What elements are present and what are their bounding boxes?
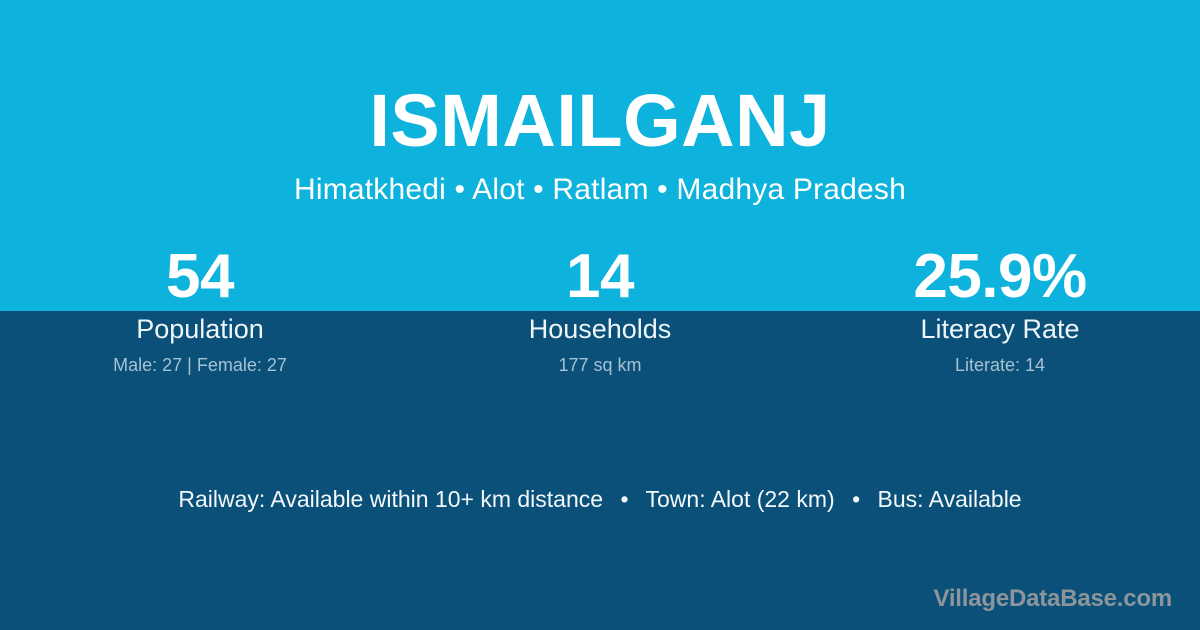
info-separator-2: • bbox=[841, 484, 871, 514]
info-railway: Railway: Available within 10+ km distanc… bbox=[178, 486, 603, 512]
stat-sub-households: 177 sq km bbox=[400, 354, 800, 376]
stat-literacy-rate: 25.9% Literacy Rate Literate: 14 bbox=[800, 244, 1200, 376]
info-separator-1: • bbox=[609, 484, 639, 514]
stat-value-population: 54 bbox=[0, 244, 400, 310]
stat-label-population: Population bbox=[0, 313, 400, 345]
stat-sub-literacy-rate: Literate: 14 bbox=[800, 354, 1200, 376]
info-bus: Bus: Available bbox=[878, 486, 1022, 512]
stat-value-literacy-rate: 25.9% bbox=[800, 244, 1200, 310]
connectivity-info-line: Railway: Available within 10+ km distanc… bbox=[0, 484, 1200, 514]
stat-population: 54 Population Male: 27 | Female: 27 bbox=[0, 244, 400, 376]
village-data-card: ISMAILGANJ Himatkhedi • Alot • Ratlam • … bbox=[0, 0, 1200, 630]
card-header: ISMAILGANJ Himatkhedi • Alot • Ratlam • … bbox=[0, 0, 1200, 205]
stat-label-literacy-rate: Literacy Rate bbox=[800, 313, 1200, 345]
page-title: ISMAILGANJ bbox=[0, 0, 1200, 158]
site-branding: VillageDataBase.com bbox=[933, 585, 1172, 613]
stat-households: 14 Households 177 sq km bbox=[400, 244, 800, 376]
stat-label-households: Households bbox=[400, 313, 800, 345]
breadcrumb: Himatkhedi • Alot • Ratlam • Madhya Prad… bbox=[0, 158, 1200, 205]
stats-row: 54 Population Male: 27 | Female: 27 14 H… bbox=[0, 244, 1200, 376]
info-town: Town: Alot (22 km) bbox=[646, 486, 835, 512]
stat-sub-population: Male: 27 | Female: 27 bbox=[0, 354, 400, 376]
stat-value-households: 14 bbox=[400, 244, 800, 310]
